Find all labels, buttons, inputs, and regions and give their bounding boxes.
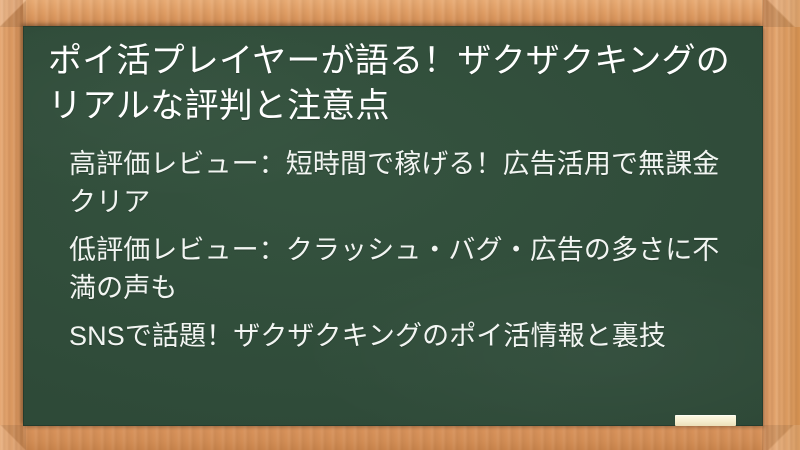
page-title: ポイ活プレイヤーが語る！ザクザクキングのリアルな評判と注意点	[41, 26, 745, 129]
list-item: 低評価レビュー：クラッシュ・バグ・広告の多さに不満の声も	[69, 231, 741, 307]
chalkboard-frame: ポイ活プレイヤーが語る！ザクザクキングのリアルな評判と注意点 高評価レビュー：短…	[0, 0, 800, 450]
frame-rail-right	[763, 0, 800, 450]
chalk-eraser-icon	[675, 415, 736, 426]
list-item: 高評価レビュー：短時間で稼げる！広告活用で無課金クリア	[69, 145, 741, 221]
frame-rail-left	[0, 0, 23, 450]
topic-list: 高評価レビュー：短時間で稼げる！広告活用で無課金クリア 低評価レビュー：クラッシ…	[41, 145, 745, 355]
chalkboard-content: ポイ活プレイヤーが語る！ザクザクキングのリアルな評判と注意点 高評価レビュー：短…	[23, 26, 763, 355]
frame-rail-bottom	[0, 426, 800, 450]
list-item: SNSで話題！ザクザクキングのポイ活情報と裏技	[69, 317, 741, 355]
chalkboard-surface: ポイ活プレイヤーが語る！ザクザクキングのリアルな評判と注意点 高評価レビュー：短…	[23, 26, 763, 426]
frame-rail-top	[0, 0, 800, 26]
